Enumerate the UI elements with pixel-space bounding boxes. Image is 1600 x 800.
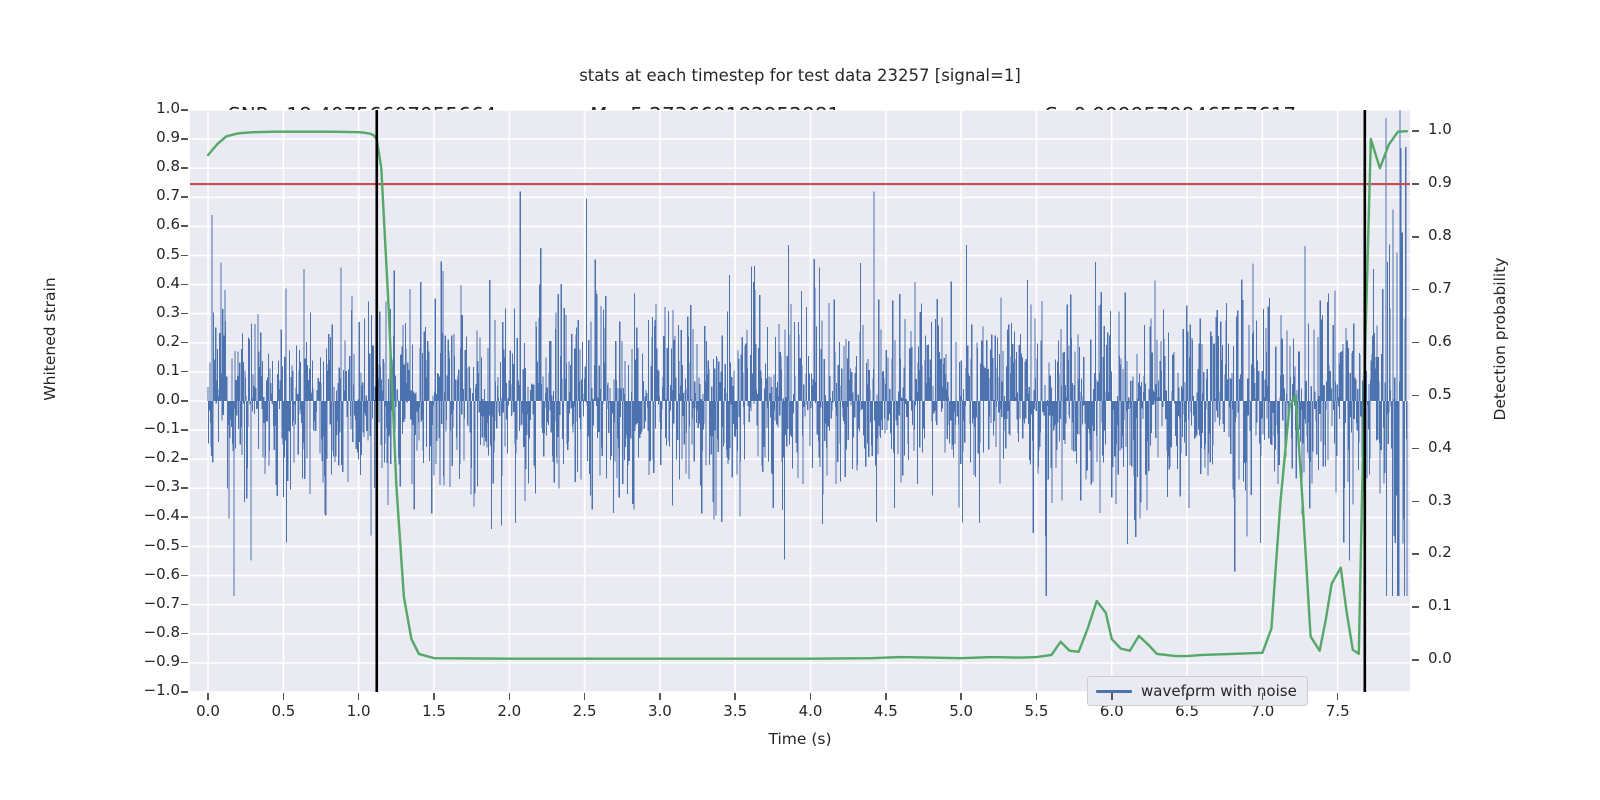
- x-tick-label: 3.5: [695, 702, 775, 720]
- y-tick-mark-right: [1412, 183, 1419, 185]
- y-tick-mark-left: [181, 604, 188, 606]
- y-tick-label-left: −0.9: [144, 654, 180, 669]
- figure: stats at each timestep for test data 232…: [0, 0, 1600, 800]
- y-tick-mark-left: [181, 255, 188, 257]
- y-tick-label-right: 0.6: [1428, 334, 1452, 349]
- x-tick-label: 5.5: [996, 702, 1076, 720]
- y-tick-label-right: 0.1: [1428, 598, 1452, 613]
- y-tick-label-right: 0.4: [1428, 440, 1452, 455]
- x-tick-mark: [584, 693, 586, 700]
- plot-canvas: [190, 110, 1410, 692]
- legend-swatch-waveform: [1096, 690, 1132, 693]
- y-tick-label-left: −0.2: [144, 450, 180, 465]
- y-tick-mark-right: [1412, 236, 1419, 238]
- y-tick-mark-left: [181, 138, 188, 140]
- y-tick-label-left: −0.4: [144, 508, 180, 523]
- y-tick-mark-right: [1412, 448, 1419, 450]
- y-tick-mark-right: [1412, 342, 1419, 344]
- y-tick-mark-left: [181, 284, 188, 286]
- waveform-series: [208, 110, 1407, 596]
- y-tick-label-right: 0.5: [1428, 387, 1452, 402]
- y-tick-mark-left: [181, 516, 188, 518]
- y-tick-mark-right: [1412, 130, 1419, 132]
- y-tick-mark-right: [1412, 501, 1419, 503]
- x-tick-label: 7.5: [1298, 702, 1378, 720]
- y-tick-mark-left: [181, 371, 188, 373]
- x-tick-mark: [207, 693, 209, 700]
- x-tick-mark: [810, 693, 812, 700]
- y-tick-mark-right: [1412, 395, 1419, 397]
- y-tick-mark-left: [181, 167, 188, 169]
- y-tick-mark-left: [181, 575, 188, 577]
- y-tick-mark-left: [181, 662, 188, 664]
- y-tick-label-left: 0.7: [156, 188, 180, 203]
- y-tick-mark-left: [181, 429, 188, 431]
- x-tick-mark: [659, 693, 661, 700]
- y-tick-label-left: 0.9: [156, 130, 180, 145]
- y-tick-label-right: 0.0: [1428, 651, 1452, 666]
- x-tick-mark: [1186, 693, 1188, 700]
- y-tick-mark-left: [181, 109, 188, 111]
- x-tick-mark: [433, 693, 435, 700]
- y-tick-label-left: 1.0: [156, 101, 180, 116]
- y-tick-label-left: 0.0: [156, 392, 180, 407]
- y-tick-mark-left: [181, 546, 188, 548]
- y-tick-mark-right: [1412, 553, 1419, 555]
- x-tick-mark: [283, 693, 285, 700]
- plot-area: [190, 110, 1410, 692]
- y-tick-mark-left: [181, 225, 188, 227]
- x-tick-mark: [1111, 693, 1113, 700]
- y-tick-label-left: −1.0: [144, 683, 180, 698]
- x-tick-mark: [885, 693, 887, 700]
- y-tick-label-left: −0.7: [144, 596, 180, 611]
- y-tick-label-right: 0.7: [1428, 281, 1452, 296]
- x-tick-label: 1.5: [394, 702, 474, 720]
- y-tick-label-right: 0.2: [1428, 545, 1452, 560]
- y-tick-label-left: −0.6: [144, 567, 180, 582]
- x-tick-label: 0.5: [243, 702, 323, 720]
- x-tick-label: 3.0: [620, 702, 700, 720]
- y-tick-label-right: 1.0: [1428, 122, 1452, 137]
- y-tick-label-left: 0.2: [156, 334, 180, 349]
- y-tick-label-left: 0.1: [156, 363, 180, 378]
- y-tick-mark-right: [1412, 606, 1419, 608]
- x-tick-label: 0.0: [168, 702, 248, 720]
- x-axis-label: Time (s): [0, 730, 1600, 748]
- y-tick-mark-left: [181, 487, 188, 489]
- y-axis-right-label: Detection probability: [1491, 219, 1509, 459]
- y-tick-label-right: 0.8: [1428, 228, 1452, 243]
- x-tick-mark: [358, 693, 360, 700]
- y-tick-label-right: 0.3: [1428, 493, 1452, 508]
- y-tick-label-left: 0.8: [156, 159, 180, 174]
- legend: waveform with noise: [1087, 676, 1308, 706]
- x-tick-label: 2.0: [469, 702, 549, 720]
- x-tick-mark: [1262, 693, 1264, 700]
- y-tick-label-left: −0.5: [144, 538, 180, 553]
- y-tick-mark-left: [181, 313, 188, 315]
- y-tick-mark-left: [181, 196, 188, 198]
- y-tick-label-left: −0.1: [144, 421, 180, 436]
- y-tick-mark-left: [181, 633, 188, 635]
- x-tick-label: 2.5: [545, 702, 625, 720]
- y-tick-label-left: 0.5: [156, 247, 180, 262]
- x-tick-label: 4.0: [771, 702, 851, 720]
- y-axis-left-label: Whitened strain: [41, 229, 59, 449]
- y-tick-label-left: −0.8: [144, 625, 180, 640]
- y-tick-mark-right: [1412, 289, 1419, 291]
- x-tick-label: 4.5: [846, 702, 926, 720]
- y-tick-label-left: 0.3: [156, 305, 180, 320]
- y-tick-mark-left: [181, 342, 188, 344]
- x-tick-label: 5.0: [921, 702, 1001, 720]
- chart-title: stats at each timestep for test data 232…: [0, 66, 1600, 85]
- x-tick-mark: [734, 693, 736, 700]
- x-tick-mark: [1036, 693, 1038, 700]
- x-tick-mark: [1337, 693, 1339, 700]
- x-tick-label: 1.0: [319, 702, 399, 720]
- x-tick-mark: [509, 693, 511, 700]
- y-tick-mark-right: [1412, 659, 1419, 661]
- y-tick-mark-left: [181, 400, 188, 402]
- legend-label-waveform: waveform with noise: [1141, 682, 1297, 700]
- y-tick-label-left: 0.6: [156, 217, 180, 232]
- y-tick-label-left: −0.3: [144, 479, 180, 494]
- x-tick-mark: [960, 693, 962, 700]
- y-tick-mark-left: [181, 691, 188, 693]
- y-tick-label-left: 0.4: [156, 276, 180, 291]
- y-tick-label-right: 0.9: [1428, 175, 1452, 190]
- y-tick-mark-left: [181, 458, 188, 460]
